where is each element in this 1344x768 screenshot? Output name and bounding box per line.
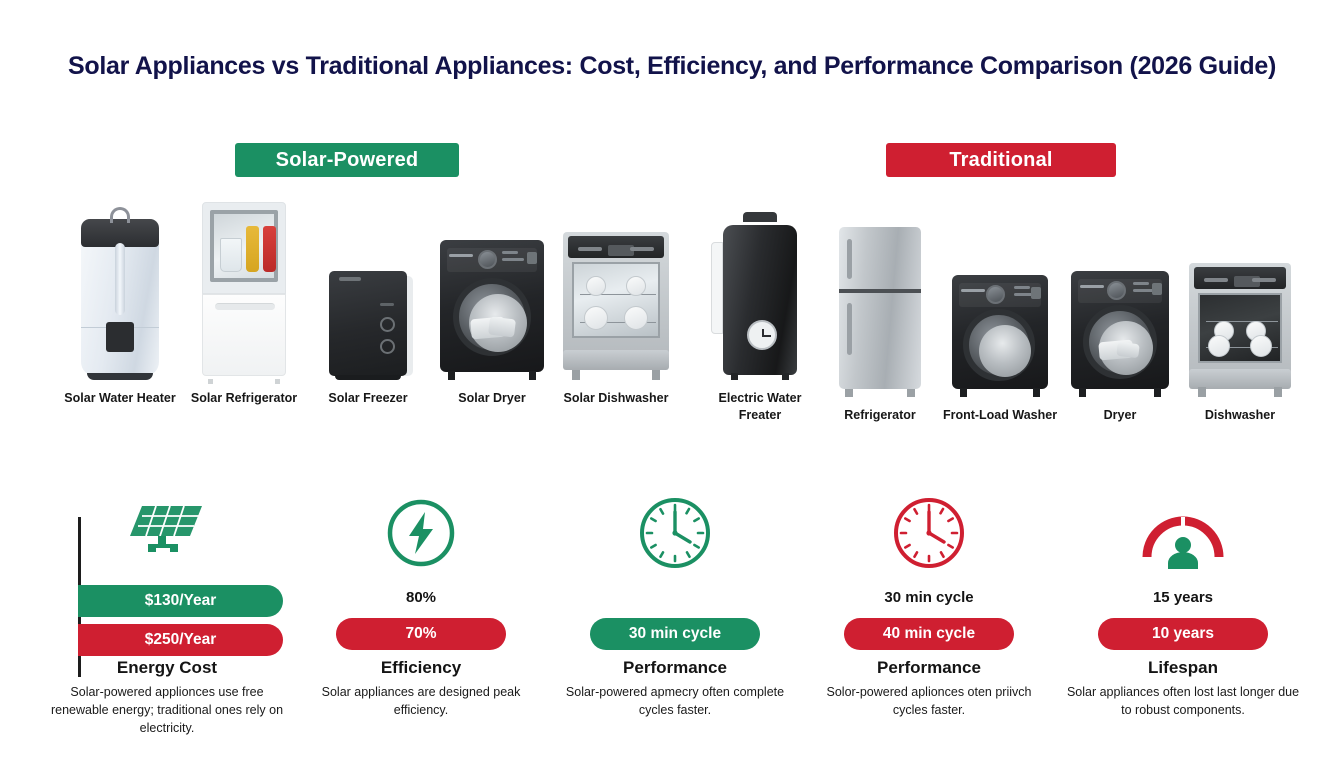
caption-lifespan: Lifespan Solar appliances often lost las… xyxy=(1056,658,1310,737)
appliance-label: Front-Load Washer xyxy=(940,407,1060,424)
refrigerator-image xyxy=(839,227,921,397)
caption-title: Performance xyxy=(808,658,1050,678)
metric-energy-cost: $130/Year $250/Year xyxy=(40,480,294,685)
gauge-person-icon xyxy=(1135,480,1231,585)
section-badge-traditional: Traditional xyxy=(886,143,1116,177)
appliance-front-load-washer: Front-Load Washer xyxy=(940,212,1060,424)
metric-lifespan: 15 years 10 years xyxy=(1056,480,1310,685)
appliance-label: Solar Water Heater xyxy=(60,390,180,407)
page-title: Solar Appliances vs Traditional Applianc… xyxy=(0,52,1344,81)
appliance-solar-water-heater: Solar Water Heater xyxy=(58,195,182,407)
value-solar: 30 min cycle xyxy=(590,618,760,650)
caption-energy-cost: Energy Cost Solar-powered applionces use… xyxy=(40,658,294,737)
value-solar: 15 years xyxy=(1153,585,1213,611)
appliance-solar-refrigerator: Solar Refrigerator xyxy=(182,195,306,407)
dryer-image xyxy=(1071,271,1169,397)
caption-title: Efficiency xyxy=(300,658,542,678)
value-traditional: 40 min cycle xyxy=(844,618,1014,650)
captions-row: Energy Cost Solar-powered applionces use… xyxy=(40,658,1310,737)
solar-dryer-image xyxy=(440,240,544,380)
metric-performance-solar: 30 min cycle xyxy=(548,480,802,685)
appliance-label: Solar Refrigerator xyxy=(184,390,304,407)
value-traditional: 10 years xyxy=(1098,618,1268,650)
appliance-label: Electric Water Freater xyxy=(700,390,820,424)
appliance-dishwasher: Dishwasher xyxy=(1180,212,1300,424)
solar-water-heater-image xyxy=(77,205,163,380)
section-badge-solar: Solar-Powered xyxy=(235,143,459,177)
metric-performance-traditional: 30 min cycle 40 min cycle xyxy=(802,480,1056,685)
appliance-label: Refrigerator xyxy=(820,407,940,424)
value-solar: 30 min cycle xyxy=(884,585,973,611)
caption-body: Solar appliances often lost last longer … xyxy=(1062,683,1304,719)
value-solar: 80% xyxy=(406,585,436,611)
solar-freezer-image xyxy=(329,265,407,380)
clock-icon xyxy=(888,480,970,585)
lightning-bolt-circle-icon xyxy=(384,480,458,585)
caption-body: Solar-powered applionces use free renewa… xyxy=(46,683,288,737)
front-load-washer-image xyxy=(952,275,1048,397)
appliance-solar-dishwasher: Solar Dishwasher xyxy=(554,195,678,407)
caption-title: Performance xyxy=(554,658,796,678)
caption-body: Solor-powered aplionces oten priivch cyc… xyxy=(808,683,1050,719)
electric-water-heater-image xyxy=(717,212,803,380)
caption-performance-traditional: Performance Solor-powered aplionces oten… xyxy=(802,658,1056,737)
bar-solar: $130/Year xyxy=(78,585,283,617)
bar-traditional: $250/Year xyxy=(78,624,283,656)
appliance-refrigerator: Refrigerator xyxy=(820,212,940,424)
appliance-electric-water-heater: Electric Water Freater xyxy=(700,195,820,424)
caption-title: Energy Cost xyxy=(46,658,288,678)
solar-appliance-row: Solar Water Heater Solar Refrigerator So… xyxy=(58,195,678,407)
caption-body: Solar-powered apmecry often complete cyc… xyxy=(554,683,796,719)
metrics-row: $130/Year $250/Year 80% 70% xyxy=(40,480,1310,685)
metric-efficiency: 80% 70% xyxy=(294,480,548,685)
appliance-label: Dishwasher xyxy=(1180,407,1300,424)
caption-performance-solar: Performance Solar-powered apmecry often … xyxy=(548,658,802,737)
solar-panel-icon xyxy=(128,480,206,585)
appliance-solar-freezer: Solar Freezer xyxy=(306,195,430,407)
appliance-label: Solar Freezer xyxy=(308,390,428,407)
appliance-label: Solar Dishwasher xyxy=(556,390,676,407)
appliance-label: Solar Dryer xyxy=(432,390,552,407)
appliance-solar-dryer: Solar Dryer xyxy=(430,195,554,407)
traditional-appliance-row: Electric Water Freater Refrigerator Fr xyxy=(700,195,1300,424)
solar-dishwasher-image xyxy=(563,232,669,380)
caption-title: Lifespan xyxy=(1062,658,1304,678)
clock-icon xyxy=(634,480,716,585)
appliance-label: Dryer xyxy=(1060,407,1180,424)
caption-efficiency: Efficiency Solar appliances are designed… xyxy=(294,658,548,737)
dishwasher-image xyxy=(1189,263,1291,397)
value-traditional: 70% xyxy=(336,618,506,650)
caption-body: Solar appliances are designed peak effic… xyxy=(300,683,542,719)
solar-refrigerator-image xyxy=(202,202,286,380)
appliance-dryer: Dryer xyxy=(1060,212,1180,424)
